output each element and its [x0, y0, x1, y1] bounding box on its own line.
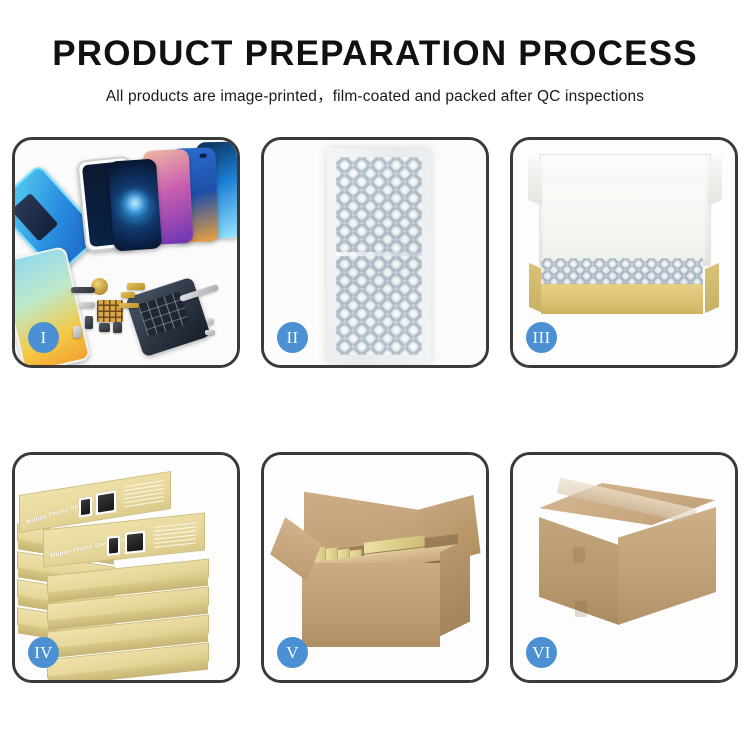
bubble-wrap-seam [336, 252, 422, 256]
part-camera-module [99, 323, 110, 332]
step-panel-6: VI [510, 452, 738, 683]
part-gold-tab [121, 292, 135, 298]
step-badge-5: V [277, 637, 308, 668]
part-button-set [85, 316, 93, 329]
page-subtitle: All products are image-printed，film-coat… [0, 73, 750, 106]
step-panel-2: II [261, 137, 489, 368]
part-washer [207, 318, 214, 325]
carton-side-panel [440, 538, 470, 637]
carton-handle-notch-top [573, 547, 585, 563]
step-badge-4: IV [28, 637, 59, 668]
carton-handle-notch-bottom [575, 601, 587, 617]
inner-box-interior [543, 184, 705, 260]
inner-box-front-panel [541, 284, 703, 314]
box-thumb-1b [95, 490, 117, 516]
phone-screen-dark-blue [108, 158, 162, 251]
bubble-wrap-texture [336, 157, 422, 355]
product-preparation-poster: PRODUCT PREPARATION PROCESS All products… [0, 0, 750, 750]
step-badge-6: VI [526, 637, 557, 668]
step-4-illustration: Mobile Phone Spare Parts Mobile Phone Sp… [15, 455, 237, 680]
step-panel-5: V [261, 452, 489, 683]
part-sim-tray [73, 326, 81, 338]
step-5-illustration: V [264, 455, 486, 680]
part-ribbon-cable [119, 303, 139, 308]
box-thumb-2a [106, 534, 121, 557]
step-panel-3: III [510, 137, 738, 368]
process-steps-grid: I II III [12, 137, 738, 683]
box-spec-lines-1 [124, 480, 164, 508]
step-3-illustration: III [513, 140, 735, 365]
part-silver-bracket [79, 302, 95, 308]
step-panel-1: I [12, 137, 240, 368]
part-vibrator [113, 322, 122, 333]
inner-box-bubble-content [541, 258, 703, 286]
bubble-wrap-package [327, 148, 431, 364]
step-badge-1: I [28, 322, 59, 353]
box-thumb-1a [78, 495, 93, 518]
step-6-illustration: VI [513, 455, 735, 680]
poster-header: PRODUCT PREPARATION PROCESS All products… [0, 0, 750, 106]
page-title: PRODUCT PREPARATION PROCESS [0, 0, 750, 73]
carton-front-panel [302, 563, 440, 647]
step-1-illustration: I [15, 140, 237, 365]
step-panel-4: Mobile Phone Spare Parts Mobile Phone Sp… [12, 452, 240, 683]
inner-box-right-wall [705, 263, 719, 313]
part-screw-set [205, 330, 215, 335]
box-spec-lines-2 [154, 522, 196, 548]
part-gold-flex [127, 283, 145, 290]
box-thumb-2b [124, 530, 146, 555]
step-2-illustration: II [264, 140, 486, 365]
step-badge-2: II [277, 322, 308, 353]
step-badge-3: III [526, 322, 557, 353]
part-flex-strip [71, 287, 95, 293]
